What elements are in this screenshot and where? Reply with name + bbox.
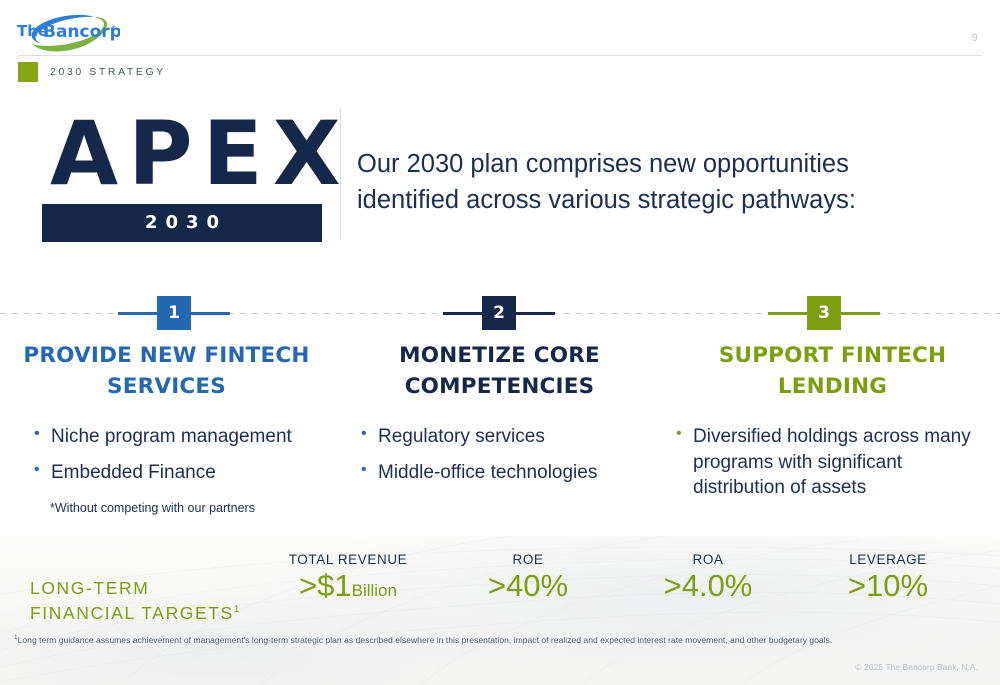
pathway-title-3: SUPPORT FINTECH LENDING <box>666 340 999 402</box>
list-item: Embedded Finance <box>34 460 324 485</box>
pathway-column-3: SUPPORT FINTECH LENDING Diversified hold… <box>666 340 999 516</box>
slide-root: The Bancorp ® 9 2030 STRATEGY APEX 2030 … <box>0 0 1000 685</box>
financial-targets-label: LONG-TERM FINANCIAL TARGETS1 <box>30 576 241 626</box>
svg-text:Bancorp: Bancorp <box>43 22 120 42</box>
pathway-number-1: 1 <box>157 296 191 330</box>
pathway-bullets-3: Diversified holdings across many program… <box>676 424 986 500</box>
list-item: Niche program management <box>34 424 324 449</box>
apex-year-band: 2030 <box>42 204 322 242</box>
pathway-columns: PROVIDE NEW FINTECH SERVICES Niche progr… <box>0 340 1000 516</box>
list-item: Middle-office technologies <box>361 460 651 485</box>
metric-label: LEVERAGE <box>798 552 978 567</box>
copyright-text: © 2025 The Bancorp Bank, N.A. <box>855 662 978 672</box>
targets-label-line1: LONG-TERM <box>30 578 149 598</box>
header-divider <box>18 55 982 56</box>
bancorp-logo: The Bancorp ® <box>16 14 120 54</box>
pathway-title-1: PROVIDE NEW FINTECH SERVICES <box>0 340 333 402</box>
metric-unit: Billion <box>352 581 397 600</box>
pathway-bullets-1: Niche program management Embedded Financ… <box>34 424 324 485</box>
pathway-connector: 1 2 3 <box>0 313 1000 315</box>
metric-value: >$1Billion <box>258 568 438 605</box>
disclaimer-footnote: 1Long term guidance assumes achievement … <box>14 634 974 646</box>
pathway-column-1: PROVIDE NEW FINTECH SERVICES Niche progr… <box>0 340 333 516</box>
pathway-number-2: 2 <box>482 296 516 330</box>
svg-text:®: ® <box>111 25 117 32</box>
metric-value: >10% <box>798 568 978 605</box>
pathway-title-2: MONETIZE CORE COMPETENCIES <box>333 340 666 402</box>
metric-number: >$1 <box>299 568 352 603</box>
page-number: 9 <box>972 32 978 44</box>
apex-wordmark: APEX <box>42 112 322 196</box>
metric-leverage: LEVERAGE >10% <box>798 552 978 605</box>
metric-label: ROE <box>438 552 618 567</box>
apex-year: 2030 <box>137 212 227 233</box>
disclaimer-text: Long term guidance assumes achievement o… <box>18 635 833 645</box>
headline: Our 2030 plan comprises new opportunitie… <box>357 146 957 218</box>
pathway-column-2: MONETIZE CORE COMPETENCIES Regulatory se… <box>333 340 666 516</box>
metric-value: >40% <box>438 568 618 605</box>
metric-total-revenue: TOTAL REVENUE >$1Billion <box>258 552 438 605</box>
eyebrow-label: 2030 STRATEGY <box>50 66 166 78</box>
metric-value: >4.0% <box>618 568 798 605</box>
metrics-row: TOTAL REVENUE >$1Billion ROE >40% ROA >4… <box>258 552 978 605</box>
targets-label-line2: FINANCIAL TARGETS <box>30 603 234 623</box>
section-eyebrow: 2030 STRATEGY <box>18 62 166 82</box>
metric-roa: ROA >4.0% <box>618 552 798 605</box>
list-item: Diversified holdings across many program… <box>676 424 986 500</box>
pathway-bullets-2: Regulatory services Middle-office techno… <box>361 424 651 485</box>
metric-label: TOTAL REVENUE <box>258 552 438 567</box>
metric-label: ROA <box>618 552 798 567</box>
hero-vertical-divider <box>340 108 341 240</box>
apex-lockup: APEX 2030 <box>42 112 322 242</box>
pathway-note-1: *Without competing with our partners <box>50 501 333 515</box>
metric-roe: ROE >40% <box>438 552 618 605</box>
targets-label-superscript: 1 <box>234 604 241 615</box>
pathway-number-3: 3 <box>807 296 841 330</box>
eyebrow-swatch-icon <box>18 62 38 82</box>
list-item: Regulatory services <box>361 424 651 449</box>
